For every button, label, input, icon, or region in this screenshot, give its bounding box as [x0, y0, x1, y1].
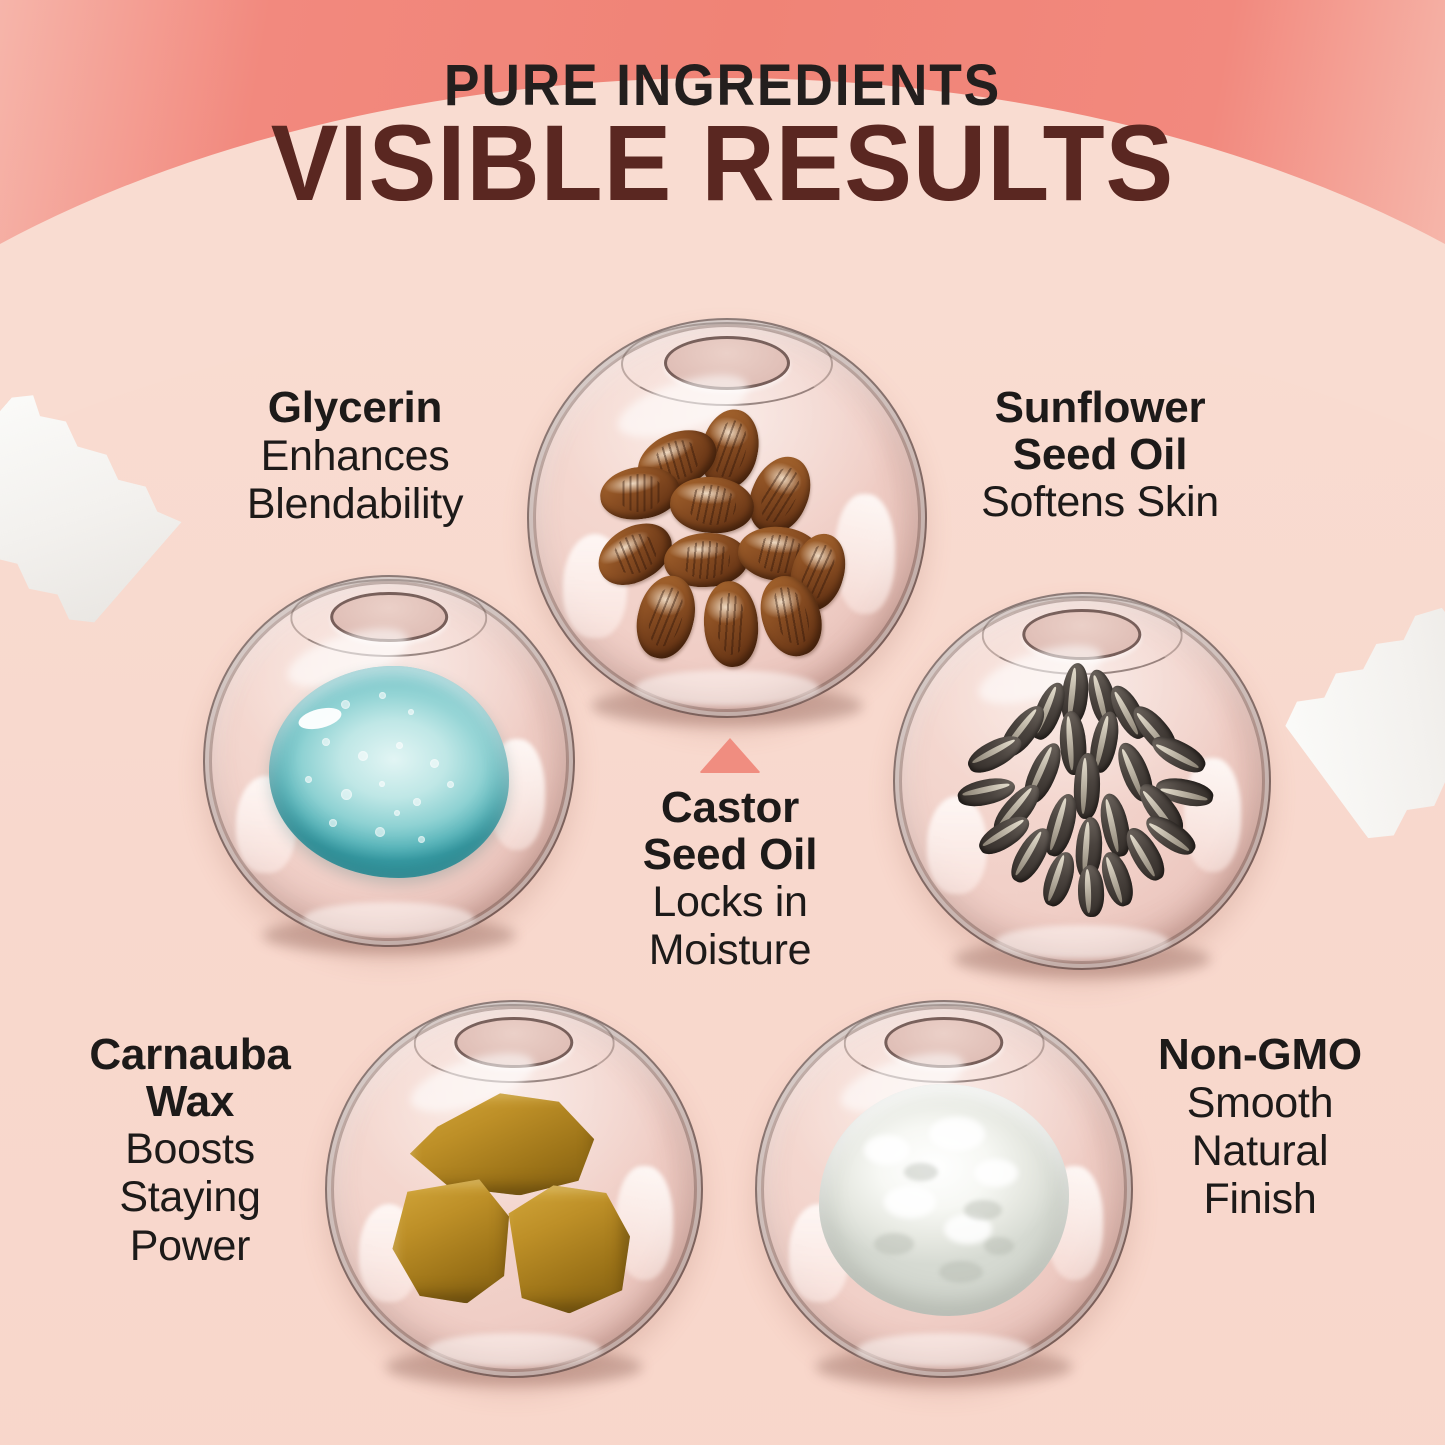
- ingredient-description-line1: Locks in: [585, 878, 875, 926]
- ingredient-name-line2: Seed Oil: [585, 832, 875, 879]
- page-title: VISIBLE RESULTS: [43, 106, 1401, 219]
- glass-highlight-bottom: [857, 1333, 1031, 1367]
- castor-pointer-triangle-icon: [700, 738, 760, 772]
- glass-highlight-bottom: [635, 670, 819, 706]
- ingredient-sphere-non-gmo: [755, 1000, 1133, 1378]
- glass-highlight-bottom: [427, 1333, 601, 1367]
- ingredient-name-line2: Seed Oil: [925, 432, 1275, 479]
- ingredient-label-sunflower-seed-oil: Sunflower Seed Oil Softens Skin: [925, 385, 1275, 526]
- ingredient-description-line3: Finish: [1110, 1175, 1410, 1223]
- ingredient-name: Non-GMO: [1110, 1032, 1410, 1079]
- gel-body: [269, 666, 509, 878]
- ingredient-name-line1: Sunflower: [925, 385, 1275, 432]
- ingredient-description-line2: Blendability: [170, 480, 540, 528]
- carnauba-wax-chunks: [394, 1085, 634, 1315]
- ingredient-description-line1: Boosts: [45, 1125, 335, 1173]
- ingredient-description-line3: Power: [45, 1222, 335, 1270]
- ingredient-name-line2: Wax: [45, 1079, 335, 1126]
- ingredient-sphere-sunflower-seed-oil: [893, 592, 1271, 970]
- ingredient-name: Glycerin: [170, 385, 540, 432]
- ingredient-description-line2: Moisture: [585, 926, 875, 974]
- ingredient-label-non-gmo: Non-GMO Smooth Natural Finish: [1110, 1032, 1410, 1223]
- gel-specular: [296, 704, 343, 733]
- ingredient-description-line2: Staying: [45, 1173, 335, 1221]
- ingredient-description-line1: Enhances: [170, 432, 540, 480]
- ingredient-name-line1: Castor: [585, 785, 875, 832]
- glycerin-gel-blob: [264, 662, 514, 882]
- ingredient-label-carnauba-wax: Carnauba Wax Boosts Staying Power: [45, 1032, 335, 1270]
- ingredient-sphere-carnauba-wax: [325, 1000, 703, 1378]
- glass-highlight-bottom: [995, 925, 1169, 959]
- ingredient-label-glycerin: Glycerin Enhances Blendability: [170, 385, 540, 528]
- powder-body: [819, 1084, 1069, 1316]
- castor-bean-cluster: [602, 415, 852, 645]
- sunflower-seed-pile: [952, 667, 1212, 917]
- white-powder-mound: [819, 1084, 1069, 1316]
- ingredient-description-line1: Softens Skin: [925, 478, 1275, 526]
- ingredient-sphere-castor-seed-oil: [527, 318, 927, 718]
- ingredient-name-line1: Carnauba: [45, 1032, 335, 1079]
- ingredient-description-line2: Natural: [1110, 1127, 1410, 1175]
- ingredient-sphere-glycerin: [203, 575, 575, 947]
- ingredient-description-line1: Smooth: [1110, 1079, 1410, 1127]
- ingredient-label-castor-seed-oil: Castor Seed Oil Locks in Moisture: [585, 785, 875, 975]
- infographic-stage: PURE INGREDIENTS VISIBLE RESULTS: [0, 0, 1445, 1445]
